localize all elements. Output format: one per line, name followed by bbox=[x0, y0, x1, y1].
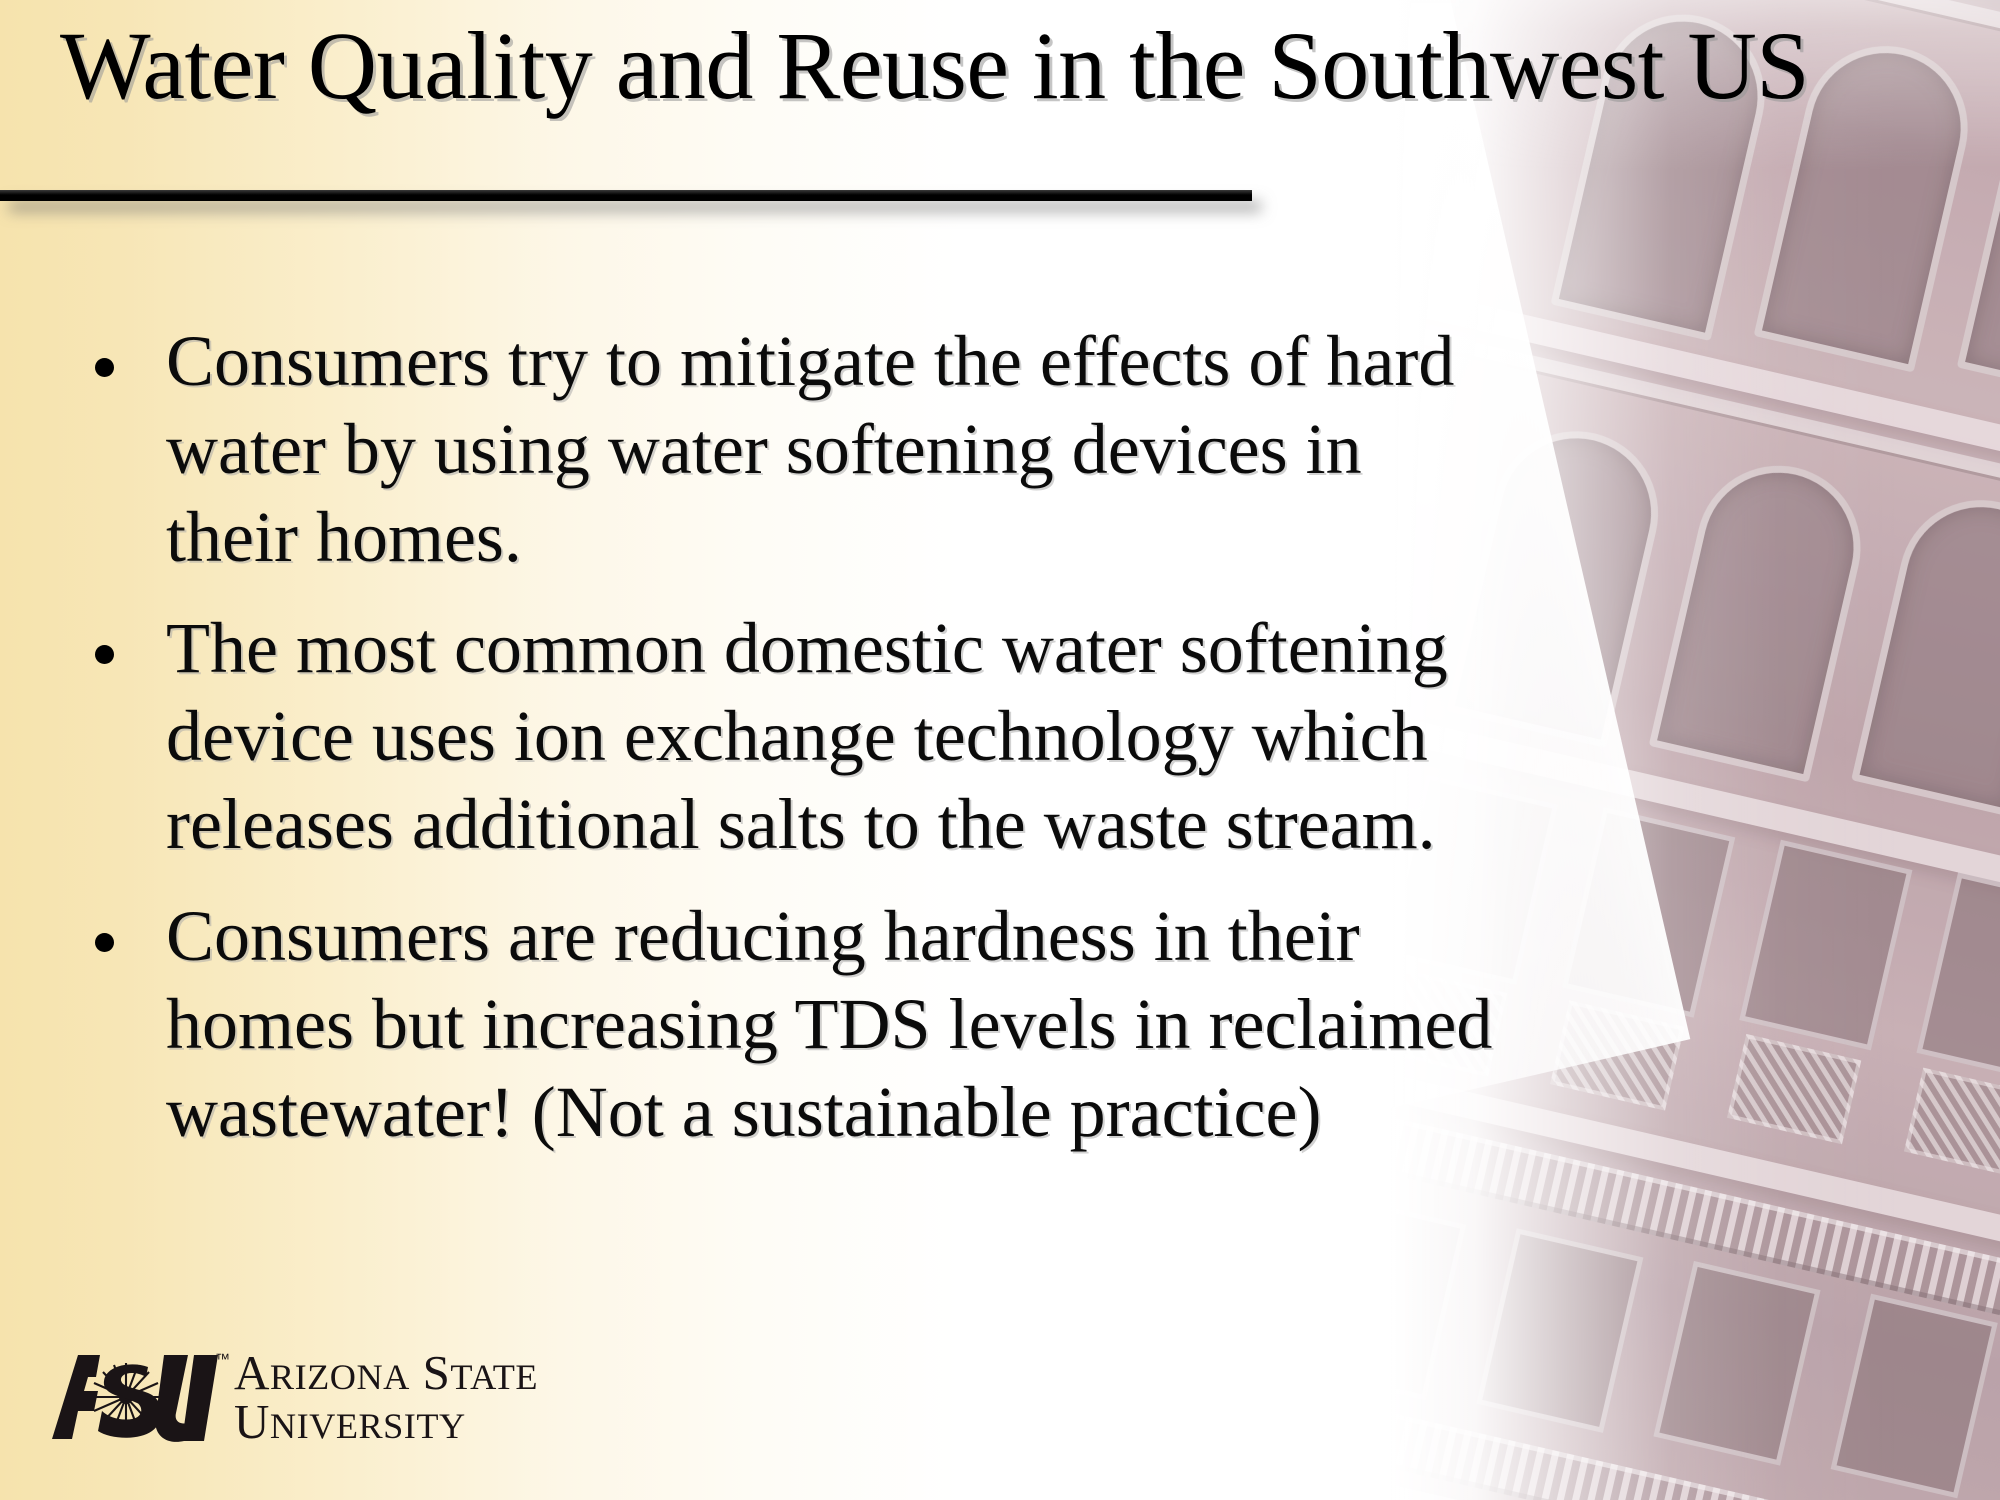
asu-wordmark-line-1: ARIZONA STATE bbox=[234, 1349, 538, 1396]
slide-title: Water Quality and Reuse in the Southwest… bbox=[60, 18, 1980, 114]
bullet-text: Consumers try to mitigate the effects of… bbox=[166, 318, 1496, 581]
asu-monogram-icon: ™ bbox=[48, 1347, 228, 1447]
asu-logo: ™ ARIZONA STATE UNIVERSITY bbox=[48, 1345, 538, 1449]
bullet-text: The most common domestic water softening… bbox=[166, 605, 1496, 868]
asu-wordmark-s: S bbox=[423, 1345, 451, 1400]
slide: Water Quality and Reuse in the Southwest… bbox=[0, 0, 2000, 1500]
asu-wordmark-rizona: RIZONA bbox=[270, 1357, 410, 1397]
list-item: The most common domestic water softening… bbox=[95, 605, 1855, 868]
asu-wordmark-tate: TATE bbox=[450, 1357, 538, 1397]
trademark-symbol: ™ bbox=[215, 1351, 230, 1368]
bullet-dot-icon bbox=[95, 645, 114, 664]
title-divider bbox=[0, 190, 1252, 201]
asu-wordmark-line-2: UNIVERSITY bbox=[234, 1398, 538, 1445]
bullet-text: Consumers are reducing hardness in their… bbox=[166, 893, 1536, 1156]
list-item: Consumers are reducing hardness in their… bbox=[95, 893, 1855, 1156]
asu-wordmark: ARIZONA STATE UNIVERSITY bbox=[234, 1349, 538, 1445]
slide-body: Consumers try to mitigate the effects of… bbox=[95, 318, 1855, 1180]
list-item: Consumers try to mitigate the effects of… bbox=[95, 318, 1855, 581]
asu-wordmark-u: U bbox=[234, 1394, 270, 1449]
bullet-dot-icon bbox=[95, 358, 114, 377]
asu-wordmark-a: A bbox=[234, 1345, 270, 1400]
asu-wordmark-niversity: NIVERSITY bbox=[270, 1406, 466, 1446]
bullet-dot-icon bbox=[95, 933, 114, 952]
